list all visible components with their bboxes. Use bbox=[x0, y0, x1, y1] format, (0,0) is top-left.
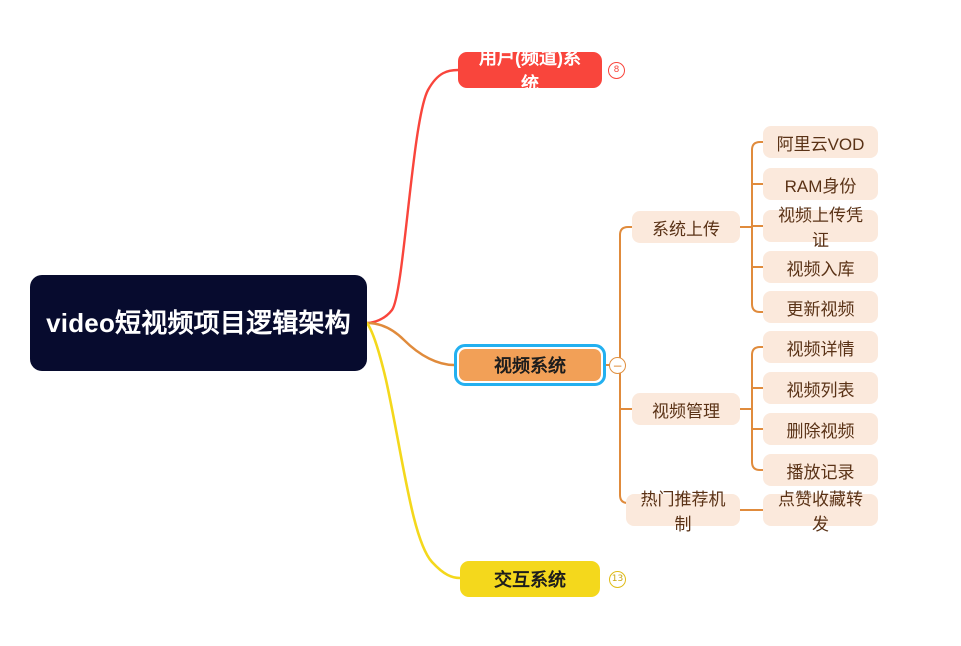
leaf-node-aliyun-vod[interactable]: 阿里云VOD bbox=[763, 126, 878, 158]
leaf-node-delete-video[interactable]: 删除视频 bbox=[763, 413, 878, 445]
leaf-label-video-detail: 视频详情 bbox=[787, 335, 855, 360]
branch-label-video-system: 视频系统 bbox=[494, 352, 566, 378]
leaf-node-video-upload-credential[interactable]: 视频上传凭证 bbox=[763, 210, 878, 242]
leaf-node-video-list[interactable]: 视频列表 bbox=[763, 372, 878, 404]
collapse-badge-interaction-system[interactable]: 13 bbox=[609, 571, 626, 588]
leaf-label-update-video: 更新视频 bbox=[787, 295, 855, 320]
collapse-badge-user-system[interactable]: 8 bbox=[608, 62, 625, 79]
leaf-label-video-upload-credential: 视频上传凭证 bbox=[775, 201, 866, 251]
leaf-node-play-history[interactable]: 播放记录 bbox=[763, 454, 878, 486]
subbranch-node-video-management[interactable]: 视频管理 bbox=[632, 393, 740, 425]
branch-label-user-system: 用户(频道)系统 bbox=[472, 44, 588, 96]
mindmap-canvas[interactable]: video短视频项目逻辑架构 用户(频道)系统 8 视频系统 − 交互系统 13… bbox=[0, 0, 961, 646]
collapse-badge-count-interaction-system: 13 bbox=[612, 575, 623, 584]
subbranch-node-hot-recommend[interactable]: 热门推荐机制 bbox=[626, 494, 740, 526]
leaf-label-video-storage: 视频入库 bbox=[787, 255, 855, 280]
collapse-badge-symbol-video-system: − bbox=[612, 360, 622, 372]
leaf-node-video-detail[interactable]: 视频详情 bbox=[763, 331, 878, 363]
leaf-node-like-collect-share[interactable]: 点赞收藏转发 bbox=[763, 494, 878, 526]
leaf-label-aliyun-vod: 阿里云VOD bbox=[777, 130, 865, 155]
root-node-label: video短视频项目逻辑架构 bbox=[46, 306, 351, 340]
leaf-label-like-collect-share: 点赞收藏转发 bbox=[775, 485, 866, 535]
subbranch-node-system-upload[interactable]: 系统上传 bbox=[632, 211, 740, 243]
leaf-label-video-list: 视频列表 bbox=[787, 376, 855, 401]
subbranch-label-hot-recommend: 热门推荐机制 bbox=[638, 485, 728, 535]
root-node[interactable]: video短视频项目逻辑架构 bbox=[30, 275, 367, 371]
branch-label-interaction-system: 交互系统 bbox=[494, 566, 566, 592]
branch-node-user-system[interactable]: 用户(频道)系统 bbox=[458, 52, 602, 88]
leaf-label-ram-identity: RAM身份 bbox=[785, 172, 857, 197]
leaf-node-update-video[interactable]: 更新视频 bbox=[763, 291, 878, 323]
branch-node-interaction-system[interactable]: 交互系统 bbox=[460, 561, 600, 597]
leaf-label-play-history: 播放记录 bbox=[787, 458, 855, 483]
leaf-node-video-storage[interactable]: 视频入库 bbox=[763, 251, 878, 283]
collapse-badge-video-system[interactable]: − bbox=[609, 357, 626, 374]
collapse-badge-count-user-system: 8 bbox=[614, 66, 620, 75]
leaf-node-ram-identity[interactable]: RAM身份 bbox=[763, 168, 878, 200]
branch-node-video-system[interactable]: 视频系统 bbox=[459, 349, 601, 381]
leaf-label-delete-video: 删除视频 bbox=[787, 417, 855, 442]
subbranch-label-video-management: 视频管理 bbox=[652, 397, 720, 422]
subbranch-label-system-upload: 系统上传 bbox=[652, 215, 720, 240]
